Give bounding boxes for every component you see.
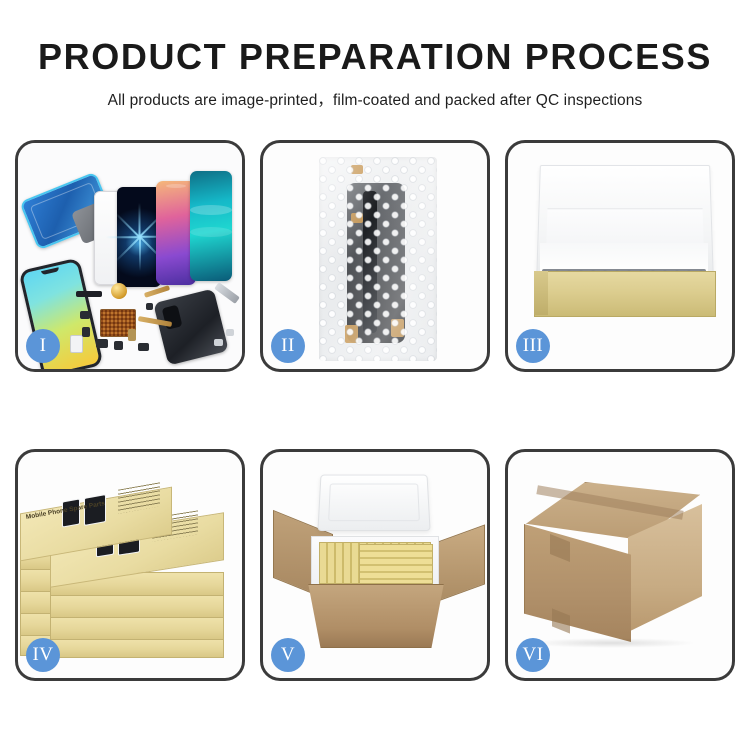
plastic-sheen: [319, 157, 437, 361]
retail-box-stack-item: [50, 594, 224, 618]
retail-box-stack-item: [50, 616, 224, 640]
small-part-dot: [146, 303, 153, 310]
small-part-dot: [128, 329, 136, 341]
yellow-box-base: [534, 271, 716, 317]
small-part-dot: [96, 339, 108, 348]
carton-front-face: [524, 524, 631, 642]
yellow-box-side: [534, 271, 548, 315]
teal-wave-phone: [190, 171, 232, 281]
retail-boxes-in-foam-row2: [359, 544, 433, 584]
carton-body: [299, 584, 453, 648]
page-title: PRODUCT PREPARATION PROCESS: [0, 38, 750, 76]
small-part-dot: [114, 341, 123, 350]
step-badge-1: I: [26, 329, 60, 363]
step-badge-2: II: [271, 329, 305, 363]
retail-box-stack-item: [50, 638, 224, 658]
small-part-dot: [82, 327, 90, 337]
dark-screen-phone: [117, 187, 161, 287]
small-part-dot: [214, 339, 223, 346]
small-white-part: [70, 335, 83, 353]
speaker-component: [76, 291, 102, 297]
process-step-grid: I II III: [15, 140, 735, 685]
page-header: PRODUCT PREPARATION PROCESS All products…: [0, 0, 750, 110]
step-badge-3: III: [516, 329, 550, 363]
process-step-panel-3[interactable]: III: [505, 140, 735, 372]
bubble-wrap-bag: [319, 157, 437, 361]
step-badge-6: VI: [516, 638, 550, 672]
step-badge-4: IV: [26, 638, 60, 672]
process-step-panel-2[interactable]: II: [260, 140, 490, 372]
process-step-panel-1[interactable]: I: [15, 140, 245, 372]
foam-box-lid: [317, 475, 430, 531]
process-step-panel-5[interactable]: V: [260, 449, 490, 681]
small-part-dot: [138, 343, 149, 351]
process-step-panel-4[interactable]: Mobile Phone Spare Parts Mobile Phone Sp…: [15, 449, 245, 681]
carton-drop-shadow: [528, 638, 696, 648]
gold-coin-component: [111, 283, 127, 299]
small-part-dot: [80, 311, 90, 319]
page-subtitle: All products are image-printed，film-coat…: [0, 88, 750, 110]
process-step-panel-6[interactable]: VI: [505, 449, 735, 681]
step-badge-5: V: [271, 638, 305, 672]
small-part-dot: [226, 329, 234, 336]
